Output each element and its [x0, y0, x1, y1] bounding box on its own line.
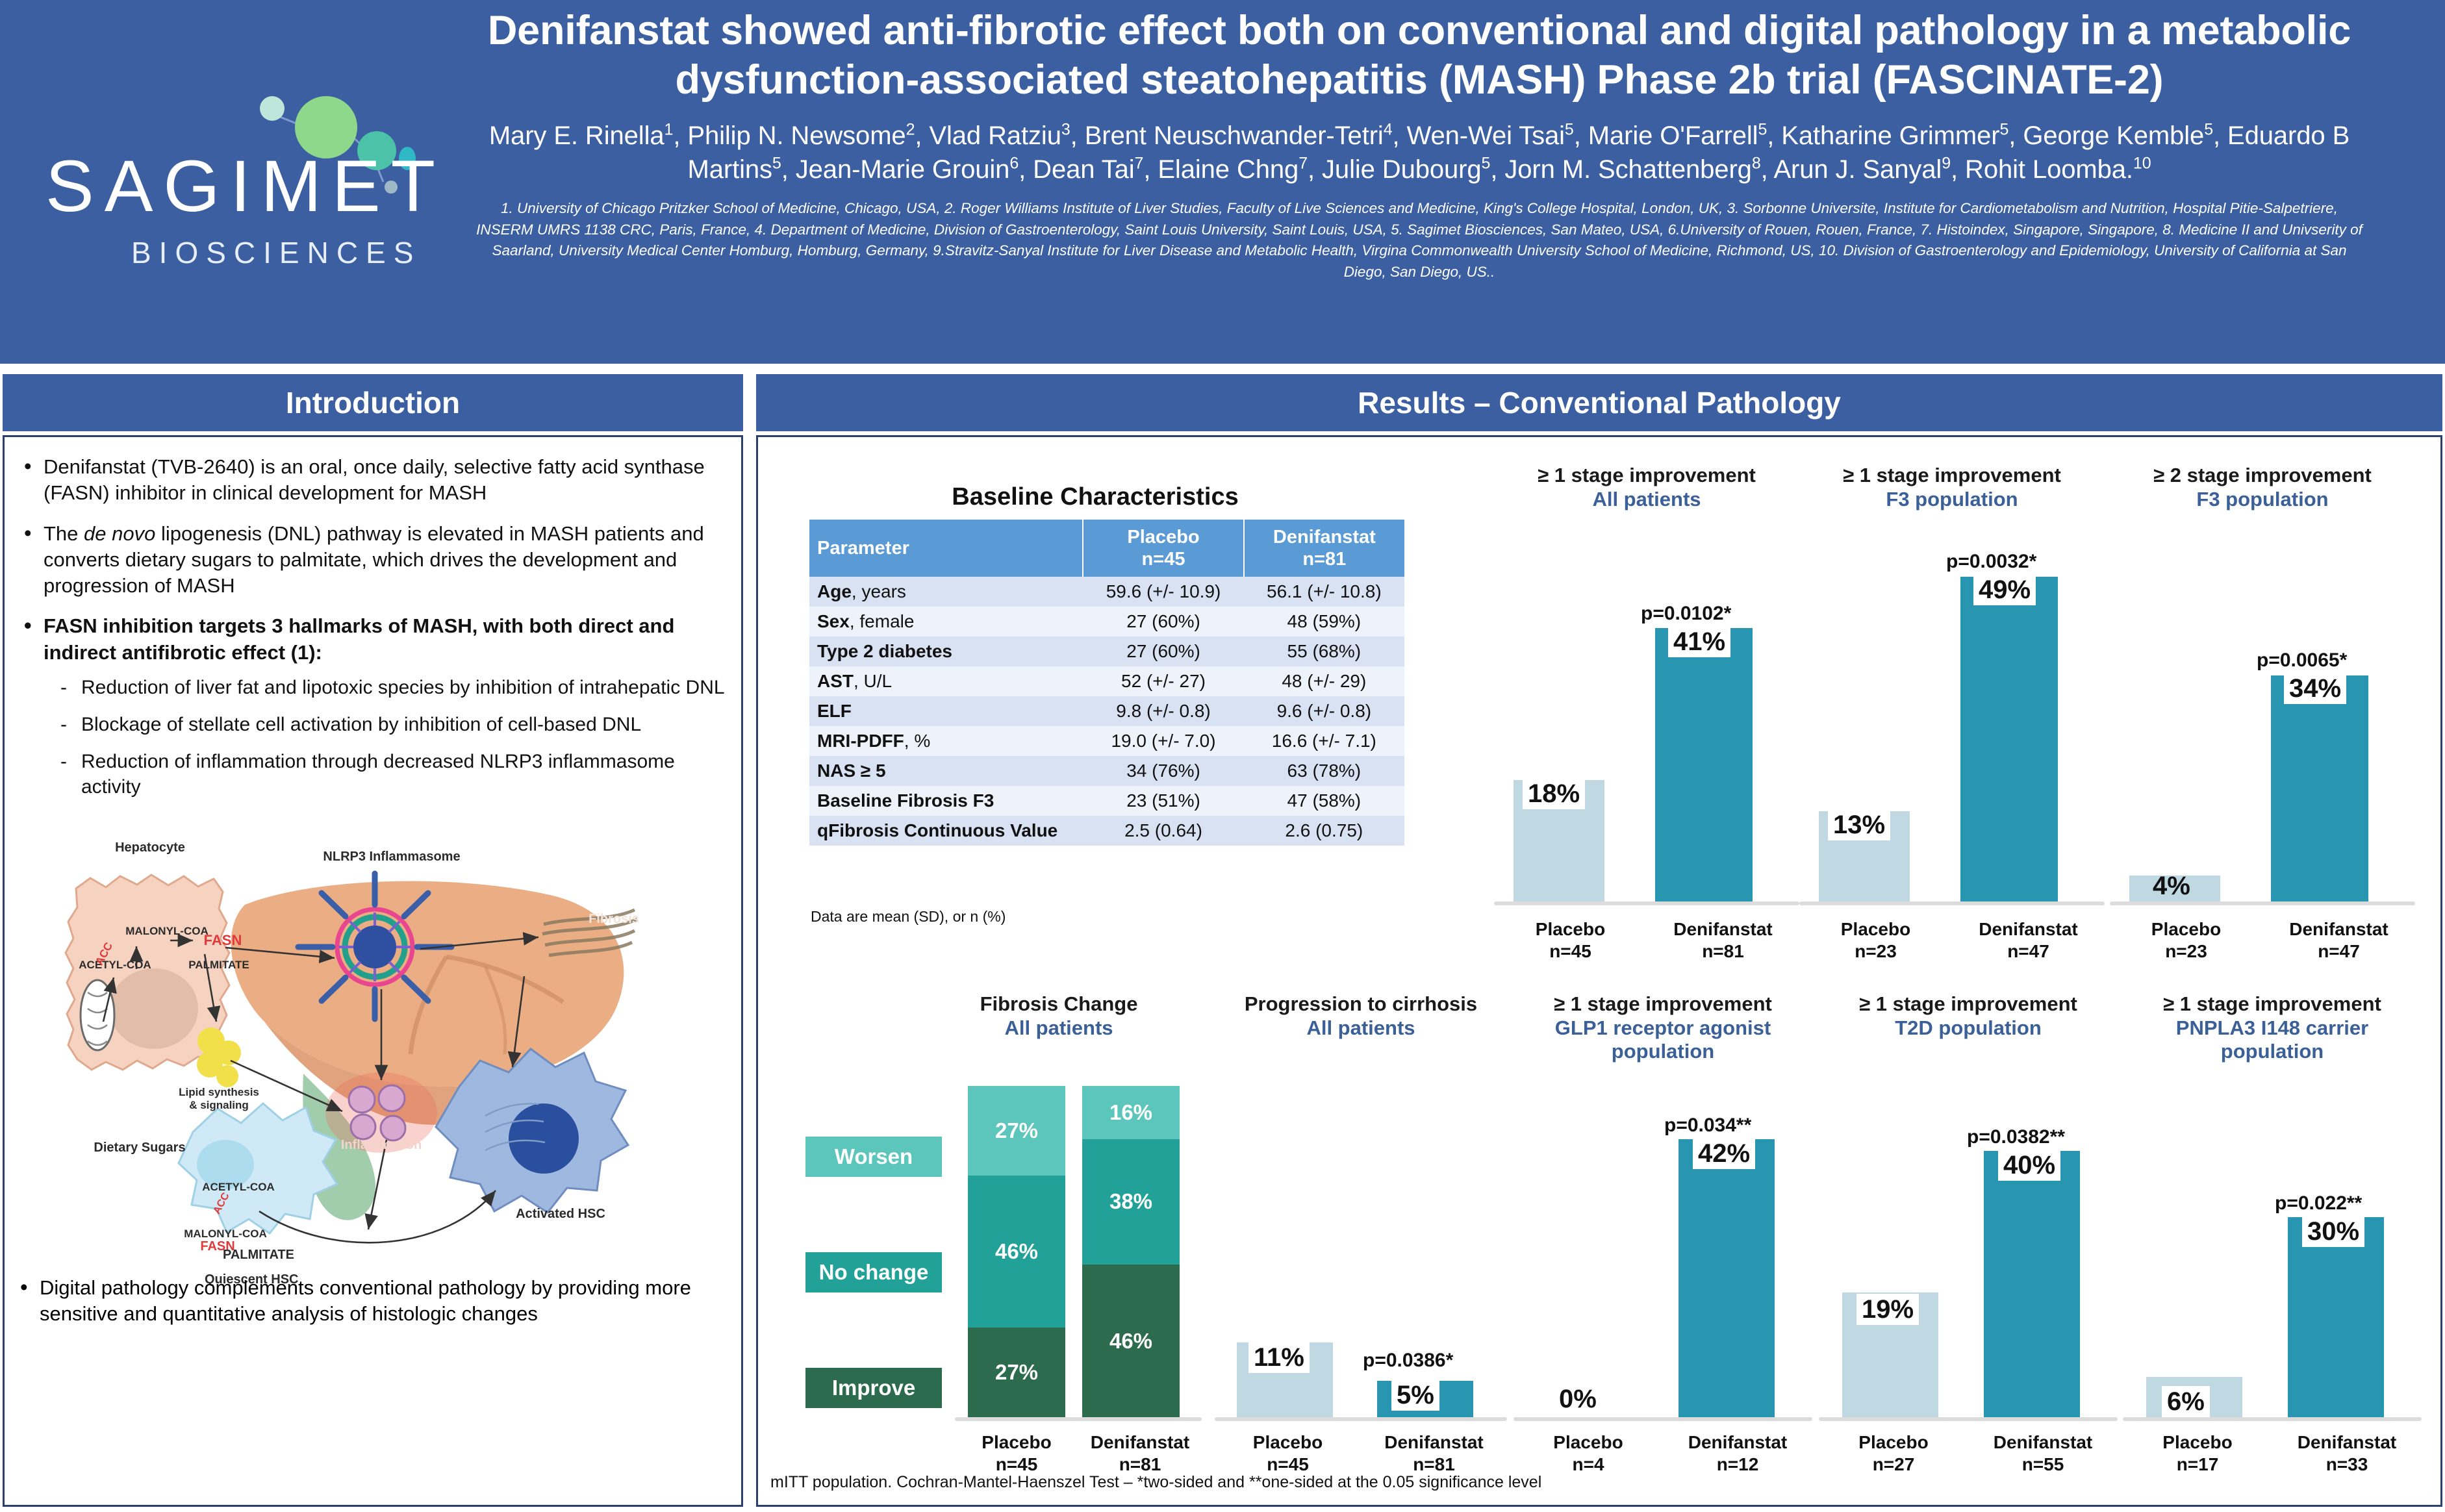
svg-text:Lipid synthesis: Lipid synthesis	[179, 1086, 259, 1098]
x-label-text: Denifanstat	[1078, 1431, 1202, 1454]
x-label-n: n=47	[2262, 940, 2415, 963]
cell-denifanstat: 48 (+/- 29)	[1244, 666, 1404, 696]
x-label-text: Placebo	[1215, 1431, 1361, 1454]
introduction-panel: Denifanstat (TVB-2640) is an oral, once …	[3, 435, 743, 1507]
baseline-characteristics-table: Parameter Placebo n=45 Denifanstat n=81 …	[809, 520, 1404, 846]
cell-placebo: 59.6 (+/- 10.9)	[1083, 577, 1243, 607]
chart-subtitle: All patients	[1215, 1016, 1507, 1040]
cell-denifanstat: 56.1 (+/- 10.8)	[1244, 577, 1404, 607]
svg-text:Hepatocyte: Hepatocyte	[115, 840, 185, 855]
logo-molecule-dot	[260, 96, 285, 121]
plot-area: 6% 30% p=0.022**	[2123, 1093, 2422, 1421]
svg-text:Activated HSC: Activated HSC	[516, 1207, 605, 1221]
x-axis	[1819, 1417, 2118, 1421]
col-header-placebo-n: n=45	[1091, 548, 1235, 570]
x-label-denifanstat: Denifanstatn=81	[1647, 918, 1799, 963]
legend-worsen: Worsen	[805, 1137, 942, 1177]
cell-placebo: 27 (60%)	[1083, 636, 1243, 666]
col-header-denifanstat: Denifanstat n=81	[1244, 520, 1404, 577]
x-label-denifanstat: Denifanstatn=81	[1078, 1431, 1202, 1476]
segment-improve: 27%	[968, 1328, 1065, 1417]
x-axis	[1494, 901, 1799, 905]
chart-2stage-f3: ≥ 2 stage improvement F3 population 4% 3…	[2110, 464, 2415, 944]
bar-value-placebo: 11%	[1248, 1342, 1310, 1373]
baseline-table-title: Baseline Characteristics	[809, 483, 1381, 511]
table-row: Baseline Fibrosis F323 (51%)47 (58%)	[809, 786, 1404, 816]
cell-parameter: qFibrosis Continuous Value	[809, 816, 1083, 846]
chart-subtitle: All patients	[909, 1016, 1208, 1040]
bar-value-placebo: 19%	[1856, 1294, 1919, 1325]
x-label-n: n=47	[1952, 940, 2105, 963]
param-unit: , %	[904, 731, 930, 751]
x-label-n: n=55	[1968, 1454, 2118, 1476]
table-row: Age, years59.6 (+/- 10.9)56.1 (+/- 10.8)	[809, 577, 1404, 607]
param-name: MRI-PDFF	[817, 731, 904, 751]
param-name: AST	[817, 671, 854, 691]
author-list: Mary E. Rinella1, Philip N. Newsome2, Vl…	[448, 119, 2390, 186]
col-header-placebo-label: Placebo	[1091, 526, 1235, 548]
x-axis-labels: Placebon=27 Denifanstatn=55	[1819, 1431, 2118, 1476]
cell-placebo: 9.8 (+/- 0.8)	[1083, 696, 1243, 726]
param-unit: , U/L	[854, 671, 892, 691]
cell-denifanstat: 55 (68%)	[1244, 636, 1404, 666]
plot-area: 0% 42% p=0.034**	[1514, 1093, 1812, 1421]
chart-subtitle: T2D population	[1819, 1016, 2118, 1040]
cell-parameter: Type 2 diabetes	[809, 636, 1083, 666]
chart-glp1: ≥ 1 stage improvement GLP1 receptor agon…	[1514, 992, 1812, 1486]
pvalue-label: p=0.0386*	[1363, 1350, 1453, 1372]
chart-title: ≥ 1 stage improvement	[1494, 464, 1799, 488]
x-label-denifanstat: Denifanstatn=47	[2262, 918, 2415, 963]
x-label-text: Placebo	[1799, 918, 1952, 940]
title-block: Denifanstat showed anti-fibrotic effect …	[448, 6, 2390, 283]
x-label-text: Placebo	[1819, 1431, 1968, 1454]
bullet-text: The	[44, 522, 84, 545]
svg-text:FASN: FASN	[204, 932, 242, 948]
bullet-italic: de novo	[84, 522, 155, 545]
stack-placebo: 27% 46% 27%	[968, 1086, 1065, 1417]
segment-nochange: 38%	[1082, 1139, 1180, 1265]
stack-denifanstat: 16% 38% 46%	[1082, 1086, 1180, 1417]
x-axis-labels: Placebon=23 Denifanstatn=47	[1799, 918, 2105, 963]
plot-area: 19% 40% p=0.0382**	[1819, 1093, 2118, 1421]
chart-pnpla3: ≥ 1 stage improvement PNPLA3 I148 carrie…	[2123, 992, 2422, 1486]
svg-text:Inflammation: Inflammation	[341, 1138, 422, 1152]
table-row: MRI-PDFF, %19.0 (+/- 7.0)16.6 (+/- 7.1)	[809, 726, 1404, 756]
x-axis	[2110, 901, 2415, 905]
plot-area: 18% 41% p=0.0102*	[1494, 542, 1799, 905]
svg-text:ACETYL-COA: ACETYL-COA	[202, 1181, 274, 1193]
x-label-text: Placebo	[1494, 918, 1647, 940]
x-label-denifanstat: Denifanstatn=33	[2272, 1431, 2422, 1476]
x-axis	[1799, 901, 2105, 905]
chart-subtitle: All patients	[1494, 488, 1799, 512]
cell-placebo: 19.0 (+/- 7.0)	[1083, 726, 1243, 756]
segment-worsen: 16%	[1082, 1086, 1180, 1139]
svg-text:Fibrosis: Fibrosis	[589, 912, 639, 926]
results-heading: Results – Conventional Pathology	[756, 374, 2442, 431]
x-label-n: n=81	[1647, 940, 1799, 963]
cell-parameter: Baseline Fibrosis F3	[809, 786, 1083, 816]
col-header-placebo: Placebo n=45	[1083, 520, 1243, 577]
page-title: Denifanstat showed anti-fibrotic effect …	[448, 6, 2390, 105]
x-label-n: n=45	[1494, 940, 1647, 963]
pvalue-label: p=0.034**	[1664, 1115, 1751, 1137]
x-label-placebo: Placebon=23	[1799, 918, 1952, 963]
list-item: Denifanstat (TVB-2640) is an oral, once …	[16, 454, 729, 507]
x-label-text: Denifanstat	[1968, 1431, 2118, 1454]
plot-area: 27% 46% 27% 16% 38% 46%	[955, 1044, 1202, 1421]
closing-bullet: Digital pathology complements convention…	[12, 1275, 727, 1328]
col-header-parameter: Parameter	[809, 520, 1083, 577]
x-label-placebo: Placebon=45	[955, 1431, 1078, 1476]
x-label-placebo: Placebon=4	[1514, 1431, 1663, 1476]
bar-value-placebo: 6%	[2162, 1386, 2210, 1417]
x-label-denifanstat: Denifanstatn=47	[1952, 918, 2105, 963]
bar-denifanstat	[2288, 1217, 2384, 1417]
param-name: Sex	[817, 611, 850, 631]
x-axis-labels: Placebon=17 Denifanstatn=33	[2123, 1431, 2422, 1476]
bar-denifanstat	[1655, 628, 1753, 901]
x-axis-labels: Placebon=45 Denifanstatn=81	[1215, 1431, 1507, 1476]
affiliations: 1. University of Chicago Pritzker School…	[448, 198, 2390, 283]
cell-denifanstat: 48 (59%)	[1244, 607, 1404, 636]
chart-title: Progression to cirrhosis	[1215, 992, 1507, 1016]
x-axis	[1215, 1417, 1507, 1421]
cell-placebo: 23 (51%)	[1083, 786, 1243, 816]
x-label-text: Denifanstat	[2272, 1431, 2422, 1454]
chart-subtitle: GLP1 receptor agonist population	[1514, 1016, 1812, 1064]
bar-denifanstat	[1679, 1139, 1775, 1417]
cell-parameter: MRI-PDFF, %	[809, 726, 1083, 756]
x-label-n: n=12	[1663, 1454, 1812, 1476]
svg-text:ACETYL-COA: ACETYL-COA	[79, 959, 151, 971]
introduction-heading: Introduction	[3, 374, 743, 431]
results-footnote: mITT population. Cochran-Mantel-Haenszel…	[770, 1473, 1541, 1492]
figure-label-palmitate2: PALMITATE	[223, 1248, 294, 1263]
chart-title: ≥ 1 stage improvement	[2123, 992, 2422, 1016]
cell-placebo: 34 (76%)	[1083, 756, 1243, 786]
x-label-text: Denifanstat	[1952, 918, 2105, 940]
x-label-placebo: Placebon=27	[1819, 1431, 1968, 1476]
pvalue-label: p=0.0032*	[1946, 551, 2036, 573]
chart-1stage-f3: ≥ 1 stage improvement F3 population 13% …	[1799, 464, 2105, 944]
svg-text:& signaling: & signaling	[189, 1099, 249, 1111]
bar-denifanstat	[1984, 1151, 2080, 1417]
chart-title: ≥ 2 stage improvement	[2110, 464, 2415, 488]
bar-value-placebo: 0%	[1554, 1383, 1602, 1415]
cell-denifanstat: 63 (78%)	[1244, 756, 1404, 786]
table-row: qFibrosis Continuous Value2.5 (0.64)2.6 …	[809, 816, 1404, 846]
param-name: qFibrosis Continuous Value	[817, 820, 1058, 840]
plot-area: 13% 49% p=0.0032*	[1799, 542, 2105, 905]
x-axis	[2123, 1417, 2422, 1421]
bar-denifanstat	[2271, 675, 2368, 901]
x-label-text: Denifanstat	[1663, 1431, 1812, 1454]
x-label-n: n=17	[2123, 1454, 2272, 1476]
table-row: Type 2 diabetes27 (60%)55 (68%)	[809, 636, 1404, 666]
x-axis-labels: Placebon=4 Denifanstatn=12	[1514, 1431, 1812, 1476]
bar-value-denifanstat: 40%	[1998, 1150, 2060, 1181]
bullet-text: FASN inhibition targets 3 hallmarks of M…	[44, 614, 674, 663]
bar-value-placebo: 4%	[2147, 870, 2196, 901]
introduction-bullets: Denifanstat (TVB-2640) is an oral, once …	[16, 454, 729, 800]
x-label-text: Placebo	[955, 1431, 1078, 1454]
list-item: The de novo lipogenesis (DNL) pathway is…	[16, 521, 729, 599]
list-item: FASN inhibition targets 3 hallmarks of M…	[16, 613, 729, 800]
chart-fibrosis-change: Fibrosis Change All patients Worsen No c…	[805, 992, 1208, 1486]
param-unit: , years	[852, 581, 906, 601]
cell-placebo: 2.5 (0.64)	[1083, 816, 1243, 846]
x-label-denifanstat: Denifanstatn=81	[1361, 1431, 1507, 1476]
list-item: Reduction of liver fat and lipotoxic spe…	[44, 675, 729, 700]
param-name: NAS ≥ 5	[817, 761, 886, 781]
bar-value-denifanstat: 41%	[1668, 626, 1730, 657]
cell-parameter: AST, U/L	[809, 666, 1083, 696]
x-axis	[1514, 1417, 1812, 1421]
cell-parameter: Sex, female	[809, 607, 1083, 636]
table-row: ELF9.8 (+/- 0.8)9.6 (+/- 0.8)	[809, 696, 1404, 726]
cell-placebo: 52 (+/- 27)	[1083, 666, 1243, 696]
x-label-placebo: Placebon=45	[1215, 1431, 1361, 1476]
cell-denifanstat: 9.6 (+/- 0.8)	[1244, 696, 1404, 726]
param-name: Baseline Fibrosis F3	[817, 790, 994, 811]
param-name: Type 2 diabetes	[817, 641, 952, 661]
bar-value-placebo: 13%	[1828, 809, 1890, 840]
cell-denifanstat: 16.6 (+/- 7.1)	[1244, 726, 1404, 756]
introduction-sub-bullets: Reduction of liver fat and lipotoxic spe…	[44, 675, 729, 800]
svg-text:NLRP3 Inflammasome: NLRP3 Inflammasome	[323, 850, 460, 864]
x-label-text: Placebo	[2110, 918, 2262, 940]
pvalue-label: p=0.022**	[2275, 1192, 2362, 1215]
list-item: Blockage of stellate cell activation by …	[44, 712, 729, 737]
pvalue-label: p=0.0102*	[1641, 603, 1731, 625]
x-label-text: Placebo	[1514, 1431, 1663, 1454]
poster-header: SAGIMET BIOSCIENCES Denifanstat showed a…	[0, 0, 2445, 364]
svg-text:Dietary Sugars: Dietary Sugars	[94, 1140, 185, 1155]
col-header-denifanstat-n: n=81	[1252, 548, 1397, 570]
x-axis-labels: Placebon=45 Denifanstatn=81	[955, 1431, 1202, 1476]
table-header-row: Parameter Placebo n=45 Denifanstat n=81	[809, 520, 1404, 577]
table-row: Sex, female27 (60%)48 (59%)	[809, 607, 1404, 636]
poster-root: SAGIMET BIOSCIENCES Denifanstat showed a…	[0, 0, 2445, 1512]
baseline-table-note: Data are mean (SD), or n (%)	[811, 908, 1006, 926]
x-label-denifanstat: Denifanstatn=12	[1663, 1431, 1812, 1476]
x-label-placebo: Placebon=23	[2110, 918, 2262, 963]
bar-value-denifanstat: 30%	[2302, 1216, 2364, 1247]
mechanism-diagram: Hepatocyte NLRP3 Inflammasome Fibrosis M…	[31, 827, 719, 1255]
chart-subtitle: F3 population	[1799, 488, 2105, 512]
cell-denifanstat: 2.6 (0.75)	[1244, 816, 1404, 846]
segment-worsen: 27%	[968, 1086, 1065, 1176]
cell-placebo: 27 (60%)	[1083, 607, 1243, 636]
param-unit: , female	[850, 611, 915, 631]
x-label-n: n=23	[1799, 940, 1952, 963]
x-label-text: Denifanstat	[1647, 918, 1799, 940]
cell-parameter: ELF	[809, 696, 1083, 726]
x-label-placebo: Placebon=45	[1494, 918, 1647, 963]
col-header-denifanstat-label: Denifanstat	[1252, 526, 1397, 548]
sagimet-logo: SAGIMET BIOSCIENCES	[34, 84, 424, 299]
logo-tagline: BIOSCIENCES	[131, 235, 421, 270]
cell-denifanstat: 47 (58%)	[1244, 786, 1404, 816]
bar-value-denifanstat: 42%	[1693, 1138, 1755, 1169]
param-name: Age	[817, 581, 852, 601]
legend-nochange: No change	[805, 1252, 942, 1292]
svg-text:PALMITATE: PALMITATE	[188, 959, 249, 971]
chart-1stage-all: ≥ 1 stage improvement All patients 18% 4…	[1494, 464, 1799, 944]
chart-title: ≥ 1 stage improvement	[1819, 992, 2118, 1016]
chart-title: ≥ 1 stage improvement	[1514, 992, 1812, 1016]
chart-t2d: ≥ 1 stage improvement T2D population 19%…	[1819, 992, 2118, 1486]
pvalue-label: p=0.0382**	[1967, 1126, 2065, 1148]
table-row: NAS ≥ 534 (76%)63 (78%)	[809, 756, 1404, 786]
chart-title: ≥ 1 stage improvement	[1799, 464, 2105, 488]
cell-parameter: NAS ≥ 5	[809, 756, 1083, 786]
cell-parameter: Age, years	[809, 577, 1083, 607]
svg-text:MALONYL-COA: MALONYL-COA	[125, 925, 208, 937]
x-label-denifanstat: Denifanstatn=55	[1968, 1431, 2118, 1476]
bullet-text: Denifanstat (TVB-2640) is an oral, once …	[44, 455, 705, 504]
chart-title: Fibrosis Change	[909, 992, 1208, 1016]
x-axis	[955, 1417, 1202, 1421]
x-axis-labels: Placebon=23 Denifanstatn=47	[2110, 918, 2415, 963]
bar-denifanstat	[1960, 577, 2058, 901]
x-label-text: Denifanstat	[2262, 918, 2415, 940]
chart-cirrhosis: Progression to cirrhosis All patients 11…	[1215, 992, 1507, 1486]
bar-value-denifanstat: 34%	[2284, 673, 2346, 704]
mechanism-diagram-svg: Hepatocyte NLRP3 Inflammasome Fibrosis M…	[31, 827, 719, 1255]
table-row: AST, U/L52 (+/- 27)48 (+/- 29)	[809, 666, 1404, 696]
plot-area: 4% 34% p=0.0065*	[2110, 542, 2415, 905]
logo-wordmark: SAGIMET	[45, 144, 446, 228]
segment-nochange: 46%	[968, 1176, 1065, 1328]
x-label-n: n=27	[1819, 1454, 1968, 1476]
bar-value-placebo: 18%	[1523, 778, 1585, 809]
bar-value-denifanstat: 5%	[1391, 1380, 1439, 1411]
x-label-n: n=33	[2272, 1454, 2422, 1476]
chart-subtitle: F3 population	[2110, 488, 2415, 512]
svg-text:MALONYL-COA: MALONYL-COA	[184, 1228, 266, 1240]
segment-improve: 46%	[1082, 1265, 1180, 1417]
x-label-n: n=23	[2110, 940, 2262, 963]
plot-area: 11% 5% p=0.0386*	[1215, 1044, 1507, 1421]
chart-subtitle: PNPLA3 I148 carrier population	[2123, 1016, 2422, 1064]
x-label-text: Denifanstat	[1361, 1431, 1507, 1454]
x-label-placebo: Placebon=17	[2123, 1431, 2272, 1476]
x-label-text: Placebo	[2123, 1431, 2272, 1454]
pvalue-label: p=0.0065*	[2257, 649, 2347, 672]
list-item: Reduction of inflammation through decrea…	[44, 749, 729, 800]
param-name: ELF	[817, 701, 852, 721]
legend-improve: Improve	[805, 1368, 942, 1408]
x-axis-labels: Placebon=45 Denifanstatn=81	[1494, 918, 1799, 963]
bar-value-denifanstat: 49%	[1973, 574, 2036, 605]
